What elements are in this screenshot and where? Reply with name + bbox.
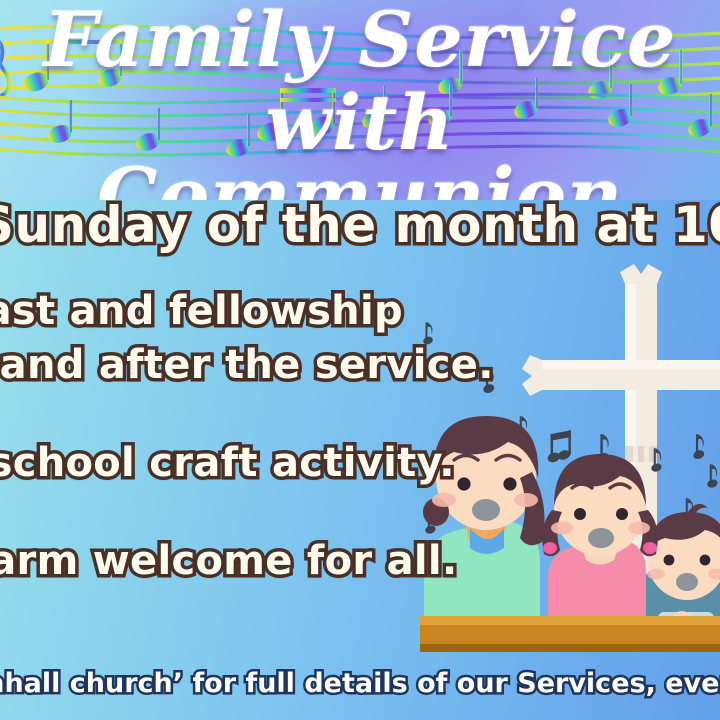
title-banner: Family Service with Communion [0, 0, 720, 200]
detail-line-4: warm welcome for all. [0, 538, 720, 584]
service-time-line: Sunday of the month at 10:3 [0, 196, 720, 254]
wooden-pew [420, 616, 720, 652]
poster-footer: tenhall church’ for full details of our … [0, 668, 720, 699]
poster-title: Family Service with Communion [0, 4, 720, 200]
detail-line-1: kfast and fellowship [0, 288, 720, 334]
title-line-1: Family Service [0, 4, 720, 77]
detail-line-2: e and after the service. [0, 342, 720, 388]
footer-line: tenhall church’ for full details of our … [0, 668, 720, 699]
poster-canvas: Family Service with Communion [0, 0, 720, 720]
detail-line-3: y school craft activity. [0, 440, 720, 486]
poster-body-text: Sunday of the month at 10:3 kfast and fe… [0, 196, 720, 584]
title-line-2: with Communion [0, 87, 720, 200]
